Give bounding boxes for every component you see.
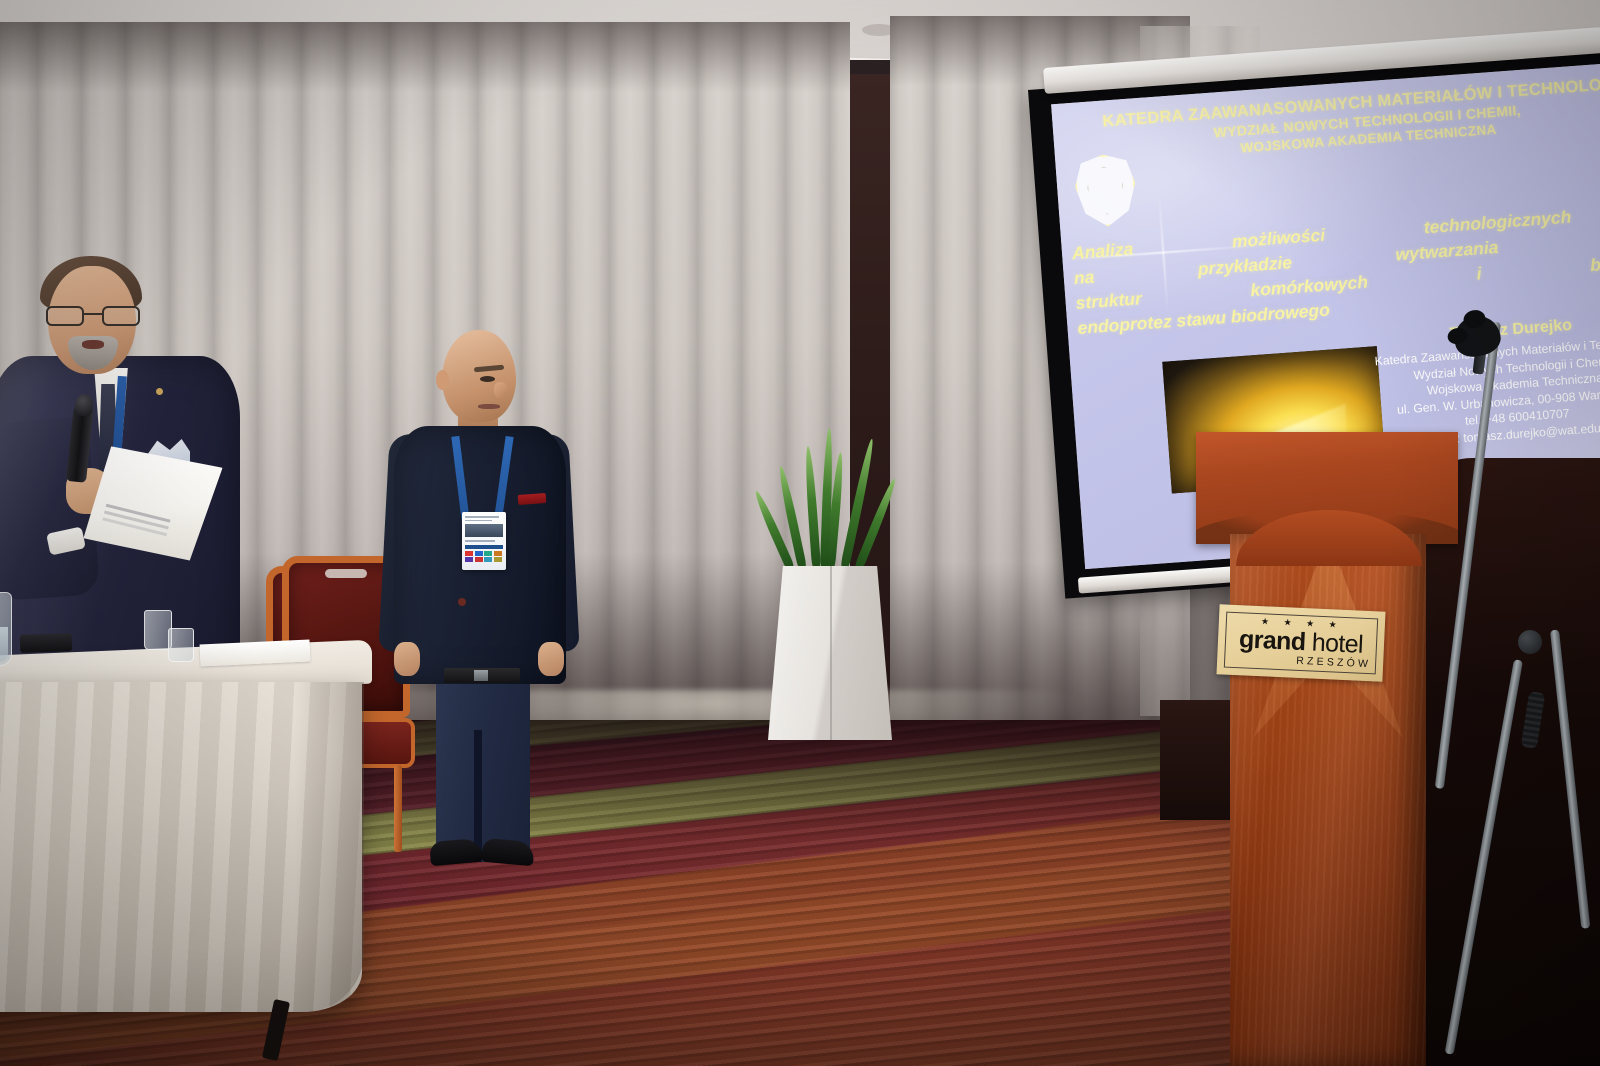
badge-photo-strip xyxy=(465,524,503,537)
planter-corner-edge xyxy=(830,566,832,740)
presenter-ear xyxy=(436,370,449,390)
mic-stand-pole xyxy=(1445,659,1523,1054)
hotel-name: grand hotel xyxy=(1239,626,1364,658)
eyeglass-lens-left xyxy=(46,306,84,326)
mic-stand-grip[interactable] xyxy=(1521,691,1546,749)
sponsor-logo xyxy=(475,557,483,562)
hotel-name-grand: grand xyxy=(1238,625,1306,656)
sponsor-logo xyxy=(484,557,492,562)
table-skirt-cloth xyxy=(0,682,362,1012)
title-word: i xyxy=(1476,261,1483,286)
mic-stand-pole xyxy=(1550,630,1590,929)
mic-stand-pole xyxy=(1435,321,1501,789)
plaque-border: ★ ★ ★ ★ grand hotel RZESZÓW xyxy=(1224,612,1378,675)
water-carafe xyxy=(0,592,12,666)
sponsor-logo xyxy=(494,557,502,562)
moderator-mouth xyxy=(82,340,104,349)
head-table xyxy=(0,648,372,1066)
presenter-shoe-left xyxy=(429,838,483,866)
black-device xyxy=(20,633,73,653)
badge-sponsor-logos xyxy=(465,551,503,563)
sponsor-logo xyxy=(494,551,502,556)
sponsor-logo xyxy=(465,551,473,556)
presenter-hand-right xyxy=(538,642,564,676)
hotel-logo-plaque: ★ ★ ★ ★ grand hotel RZESZÓW xyxy=(1216,604,1385,681)
moderator-person xyxy=(0,252,260,692)
presenter-hand-left xyxy=(394,642,420,676)
presenter-person xyxy=(378,330,578,860)
boom-microphone-stand xyxy=(1430,300,1600,1066)
presenter-mouth xyxy=(478,404,500,409)
sponsor-logo xyxy=(484,551,492,556)
curtain-top-shadow xyxy=(0,22,850,92)
drinking-glass xyxy=(168,628,194,662)
eyeglasses-icon xyxy=(46,306,140,326)
badge-text-line xyxy=(465,516,499,518)
presenter-trousers xyxy=(436,676,530,862)
hotel-city: RZESZÓW xyxy=(1296,655,1371,670)
presenter-jacket-button xyxy=(458,598,466,606)
conference-room-photo: KATEDRA ZAAWANASOWANYCH MATERIAŁÓW I TEC… xyxy=(0,0,1600,1066)
badge-text-line xyxy=(465,520,492,522)
hotel-name-hotel: hotel xyxy=(1305,628,1364,659)
sponsor-logo xyxy=(475,551,483,556)
badge-color-bar xyxy=(465,545,503,549)
mic-stand-adjust-knob[interactable] xyxy=(1518,630,1542,654)
presenter-nose xyxy=(494,382,508,398)
presenter-pocket-square xyxy=(518,493,547,505)
potted-plant xyxy=(760,470,900,740)
presenter-belt xyxy=(444,668,520,683)
lapel-pin-icon xyxy=(156,388,163,395)
sponsor-logo xyxy=(465,557,473,562)
eyeglass-bridge xyxy=(84,313,102,315)
chair-handle-slot xyxy=(325,569,366,578)
badge-text-line xyxy=(465,540,495,542)
presenter-eye xyxy=(480,376,495,382)
eyeglass-lens-right xyxy=(102,306,140,326)
conference-name-badge xyxy=(462,512,506,570)
